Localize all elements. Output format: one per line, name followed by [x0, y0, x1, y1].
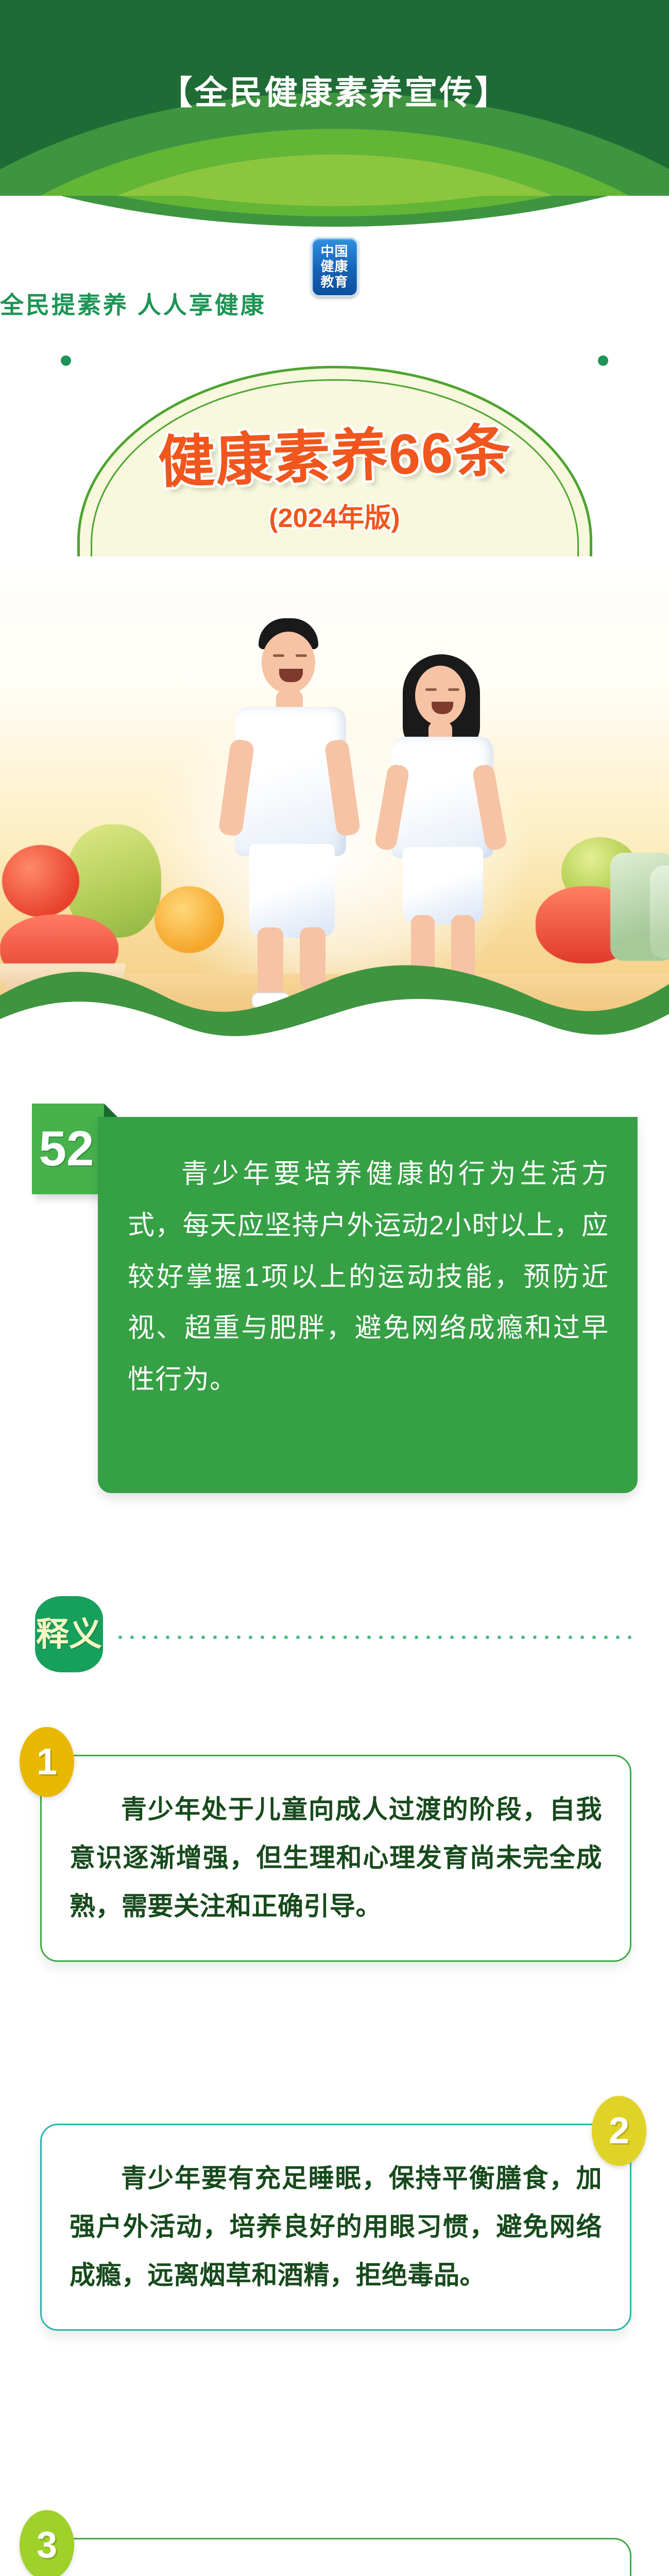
- infographic-page: 【全民健康素养宣传】 中国 健康 教育 全民提素养 人人享健康: [0, 0, 669, 2576]
- china-health-education-logo: 中国 健康 教育: [311, 237, 358, 297]
- explanation-badge-3: 3: [20, 2510, 74, 2576]
- hero-illustration: [0, 556, 669, 1072]
- hero-section: 中国 健康 教育 全民提素养 人人享健康 健康素养66条 (2024年版): [0, 196, 669, 1072]
- explanation-number-3: 3: [37, 2527, 57, 2564]
- explanation-text-2: 青少年要有充足睡眠，保持平衡膳食，加强户外活动，培养良好的用眼习惯，避免网络成瘾…: [70, 2154, 602, 2299]
- explanation-number-1: 1: [37, 1743, 57, 1781]
- green-wave-divider: [0, 918, 669, 1072]
- dotted-divider: [114, 1634, 634, 1640]
- explanation-badge-1: 1: [20, 1727, 74, 1797]
- slogan-text: 全民提素养 人人享健康: [0, 292, 266, 318]
- page-title: 【全民健康素养宣传】: [0, 76, 669, 109]
- explanation-card-1: 青少年处于儿童向成人过渡的阶段，自我意识逐渐增强，但生理和心理发育尚未完全成熟，…: [40, 1755, 631, 1962]
- item-52-number: 52: [39, 1124, 94, 1174]
- explanation-card-2: 青少年要有充足睡眠，保持平衡膳食，加强户外活动，培养良好的用眼习惯，避免网络成瘾…: [40, 2124, 631, 2331]
- logo-line-2: 健康: [320, 259, 348, 274]
- explanation-text-3: 近距离用眼要记住三个“20”，即近距离读写或视屏20分钟，要看6米以上（20英尺…: [70, 2568, 602, 2576]
- explanation-badge-2: 2: [592, 2096, 646, 2166]
- explanation-number-2: 2: [609, 2112, 629, 2149]
- explanation-header: 释义: [0, 1587, 669, 1680]
- explanation-text-1: 青少年处于儿童向成人过渡的阶段，自我意识逐渐增强，但生理和心理发育尚未完全成熟，…: [70, 1785, 602, 1930]
- item-52-number-tab: 52: [32, 1104, 104, 1194]
- logo-line-1: 中国: [320, 244, 348, 259]
- explanation-card-3: 近距离用眼要记住三个“20”，即近距离读写或视屏20分钟，要看6米以上（20英尺…: [40, 2538, 631, 2576]
- explanation-label: 释义: [36, 1618, 102, 1651]
- item-52-text: 青少年要培养健康的行为生活方式，每天应坚持户外运动2小时以上，应较好掌握1项以上…: [128, 1149, 609, 1406]
- explanation-badge: 释义: [35, 1596, 103, 1672]
- slogan-dot-right: [598, 355, 608, 366]
- logo-line-3: 教育: [320, 275, 348, 290]
- slogan-dot-left: [61, 355, 71, 366]
- tomato-icon: [2, 845, 79, 917]
- item-52-body: 青少年要培养健康的行为生活方式，每天应坚持户外运动2小时以上，应较好掌握1项以上…: [98, 1117, 638, 1493]
- main-title-edition: (2024年版): [175, 505, 494, 532]
- top-banner: 【全民健康素养宣传】: [0, 0, 669, 216]
- main-title: 健康素养66条: [123, 421, 546, 493]
